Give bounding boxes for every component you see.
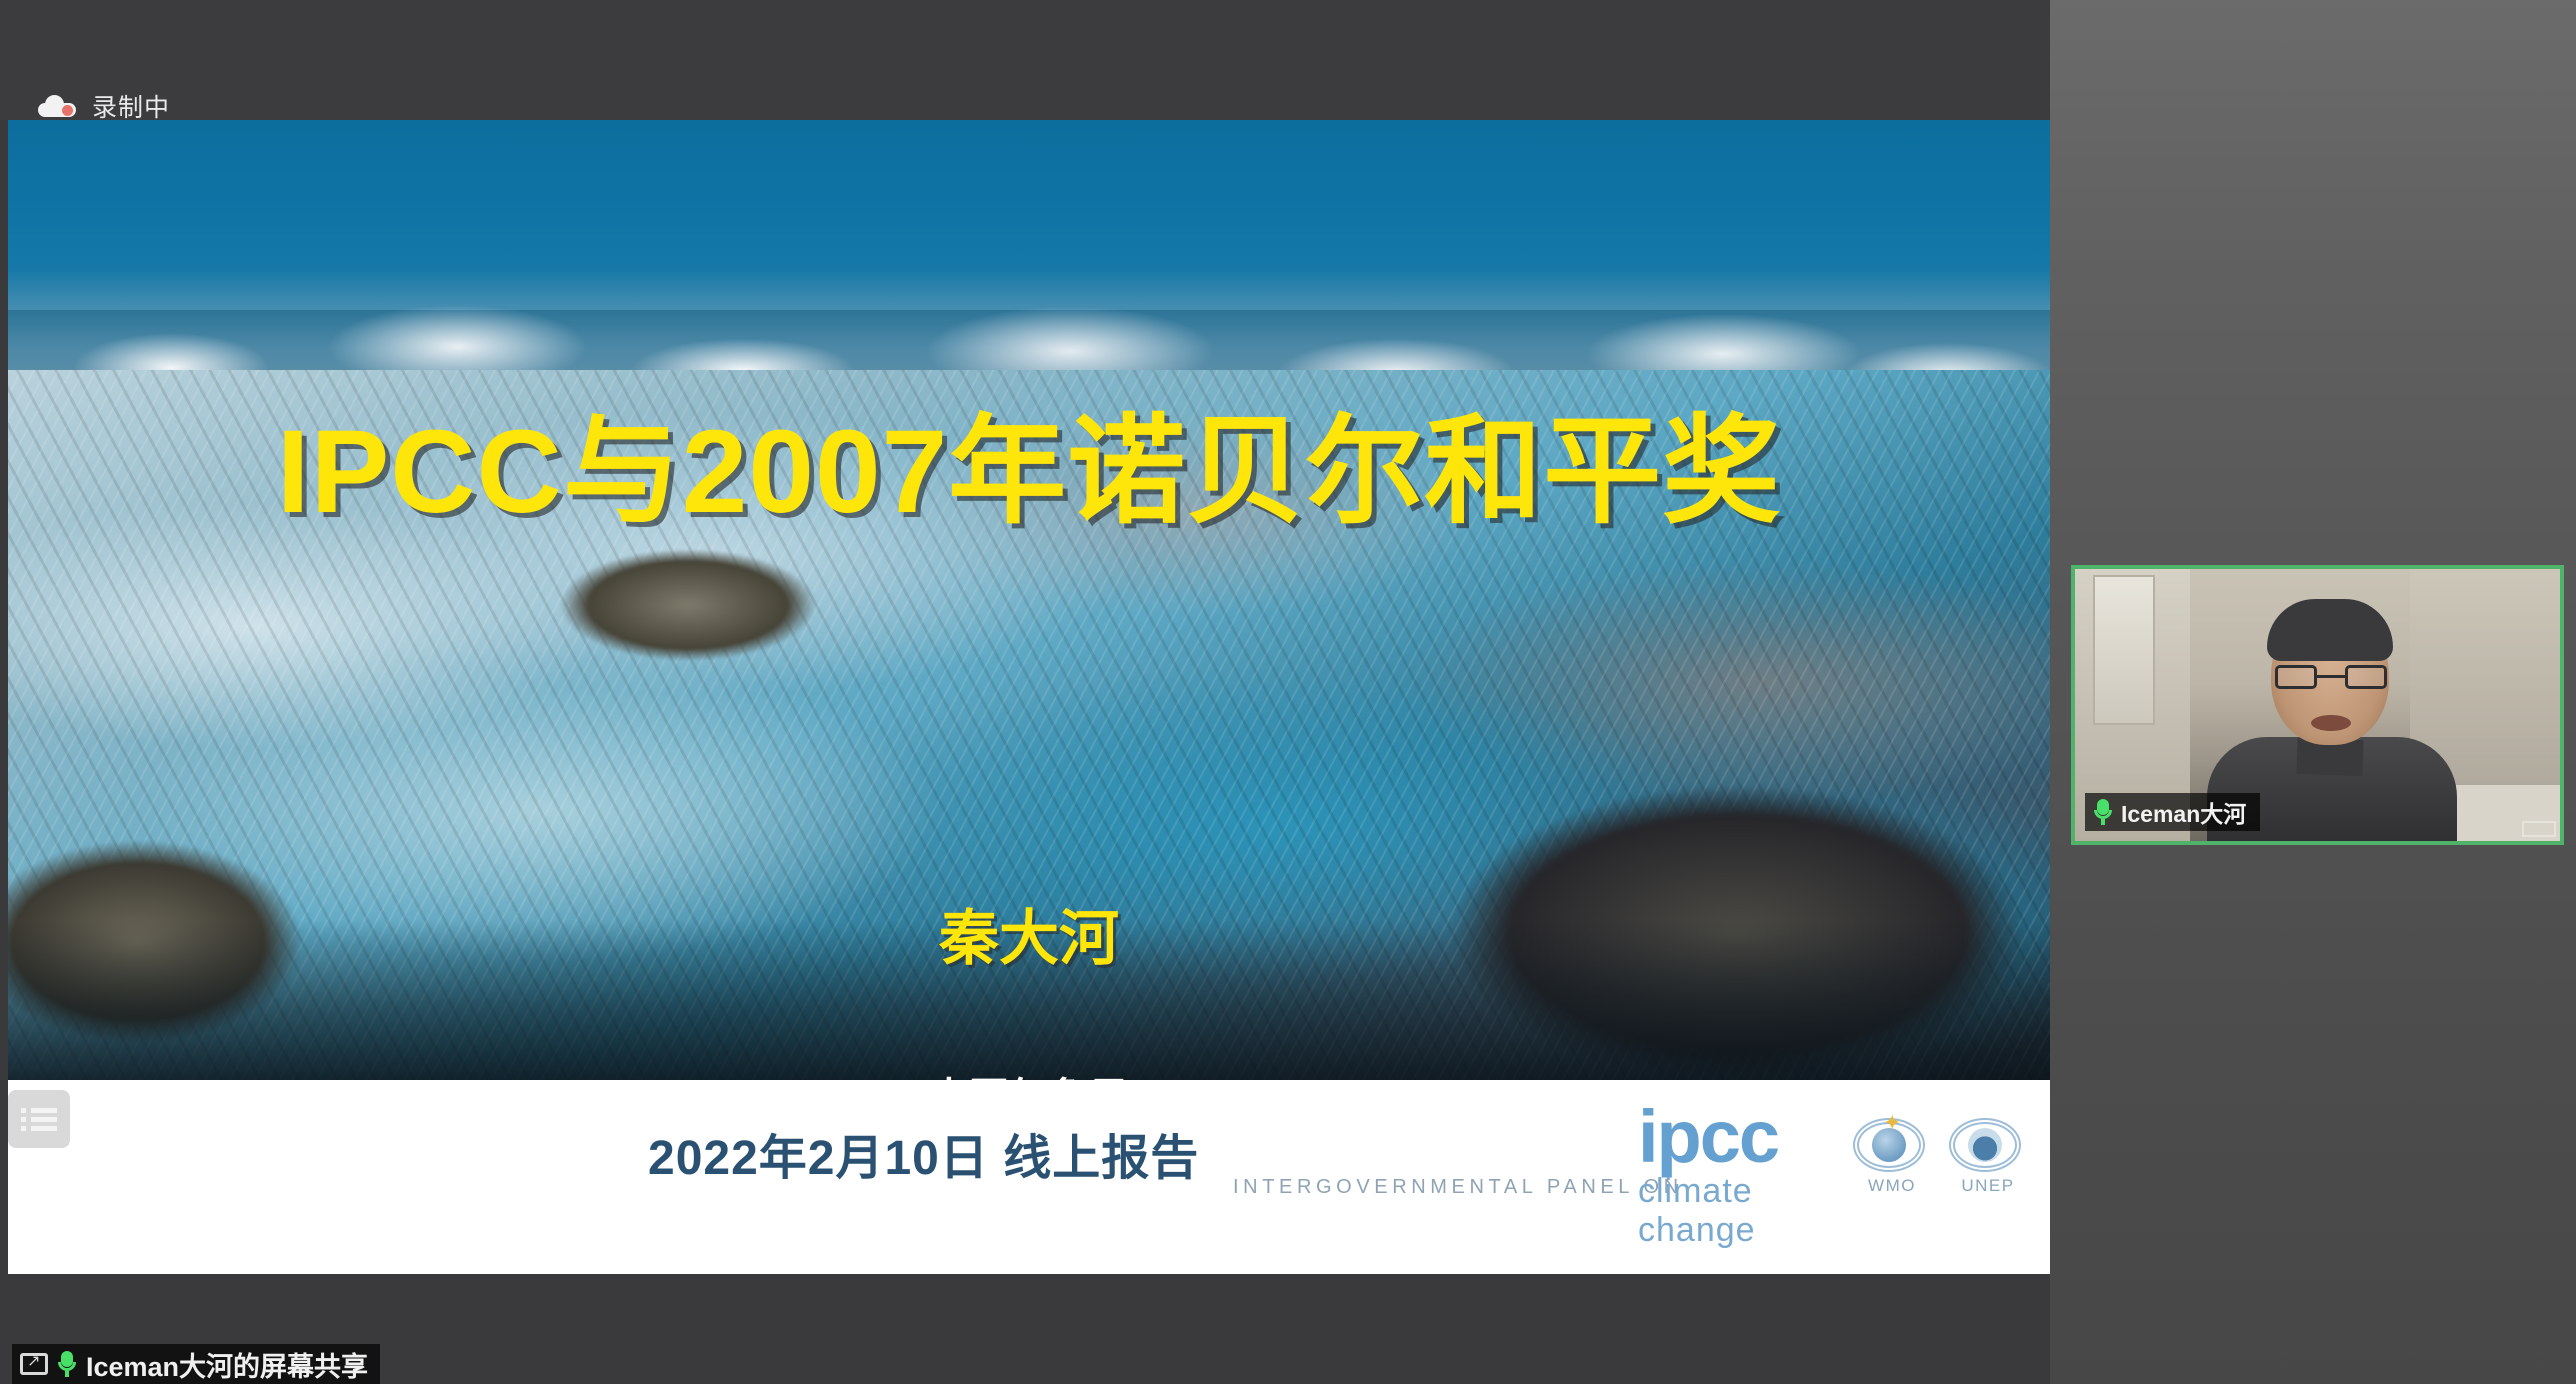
video-window-frame (2093, 575, 2155, 725)
cloud-recording-icon (38, 95, 76, 117)
participant-mouth (2311, 715, 2351, 731)
wmo-label: WMO (1853, 1176, 1931, 1196)
screen-share-text: Iceman大河的屏幕共享 (86, 1345, 368, 1384)
participant-video-tile[interactable]: Iceman大河 (2071, 565, 2564, 845)
recording-status-bar: 录制中 (0, 0, 2050, 120)
ipcc-tagline: INTERGOVERNMENTAL PANEL ON (1233, 1176, 1683, 1199)
video-corner-marker (2522, 821, 2556, 837)
microphone-icon (58, 1351, 76, 1377)
participant-hair (2267, 599, 2393, 661)
participant-name-badge: Iceman大河 (2085, 793, 2260, 831)
ipcc-wordmark: ipcc (1638, 1100, 1778, 1174)
ipcc-subtitle: climate change (1638, 1172, 1838, 1250)
agency-emblems: ✦ WMO UNEP (1853, 1118, 2033, 1218)
screen-share-label: Iceman大河的屏幕共享 (12, 1344, 380, 1384)
unep-label: UNEP (1949, 1176, 2027, 1196)
shared-slide[interactable]: IPCC与2007年诺贝尔和平奖 秦大河 中国气象局 中国科学院冰冻圈科学国家重… (8, 120, 2050, 1274)
participant-glasses (2275, 665, 2387, 689)
unep-emblem: UNEP (1949, 1118, 2027, 1218)
slide-footer: 2022年2月10日 线上报告 INTERGOVERNMENTAL PANEL … (8, 1080, 2050, 1274)
recording-indicator[interactable]: 录制中 (38, 88, 170, 124)
screen-share-icon (20, 1353, 48, 1375)
outline-list-icon[interactable] (8, 1090, 70, 1148)
wmo-emblem: ✦ WMO (1853, 1118, 1931, 1218)
slide-title: IPCC与2007年诺贝尔和平奖 (8, 375, 2050, 546)
slide-presenter-name: 秦大河 (8, 890, 2050, 977)
zoom-meeting-window: 录制中 IPCC与2007年诺贝尔和平奖 秦大河 中国气象局 中国科学院冰冻圈科… (0, 0, 2576, 1384)
photo-rock-middle (528, 530, 848, 680)
ipcc-logo: ipcc climate change (1638, 1100, 1838, 1220)
microphone-icon (2094, 799, 2112, 825)
slide-date-line: 2022年2月10日 线上报告 (648, 1118, 1199, 1188)
participant-name: Iceman大河 (2121, 795, 2246, 829)
recording-label: 录制中 (92, 88, 170, 124)
star-icon: ✦ (1883, 1110, 1901, 1136)
